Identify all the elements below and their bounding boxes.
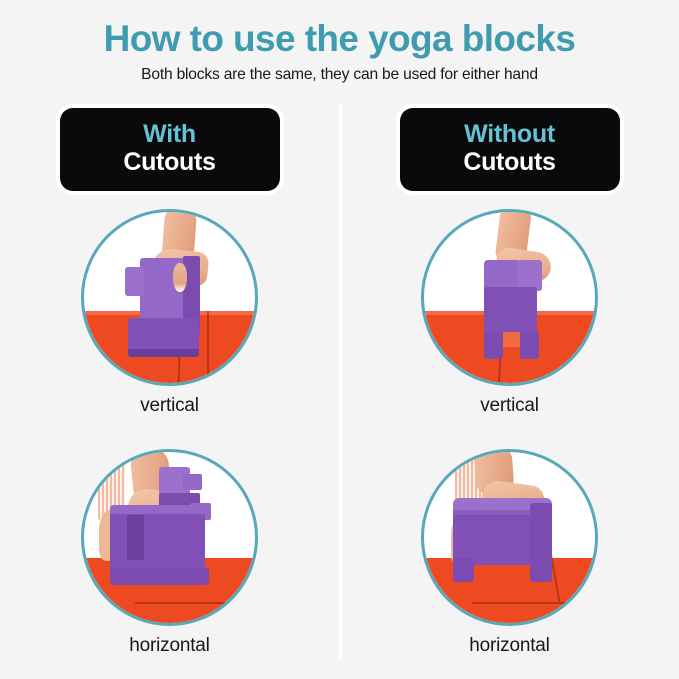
column-without-cutouts: Without Cutouts [340, 104, 679, 674]
circle-holder [0, 209, 339, 386]
mat-seam [135, 602, 238, 604]
caption-with-cutouts-horizontal: horizontal [0, 635, 339, 657]
block-body-highlight [453, 510, 530, 515]
circle-holder [340, 449, 679, 626]
block-right-foot [530, 558, 552, 582]
photo-circle-without-cutouts-horizontal [421, 449, 598, 626]
page-title: How to use the yoga blocks [0, 18, 679, 59]
block-upper-shoulder [518, 260, 542, 291]
yoga-mat [421, 558, 598, 626]
column-with-cutouts: With Cutouts [0, 104, 339, 674]
circle-holder [0, 449, 339, 626]
badge-with-cutouts-line2: Cutouts [90, 148, 250, 177]
block-left-foot [453, 558, 474, 582]
photo-circle-without-cutouts-vertical [421, 209, 598, 386]
block-cutout-tab [125, 267, 144, 296]
caption-with-cutouts-vertical: vertical [0, 395, 339, 417]
scene-without-cutouts-horizontal [424, 452, 595, 623]
block-front-body [110, 505, 206, 577]
badge-with-cutouts: With Cutouts [60, 108, 280, 191]
badge-with-cutouts-line1: With [90, 120, 250, 148]
block-right-leg [520, 332, 539, 359]
header: How to use the yoga blocks Both blocks a… [0, 18, 679, 84]
scene-without-cutouts-vertical [424, 212, 595, 383]
photo-cell-with-cutouts-vertical: vertical [0, 209, 339, 417]
badge-without-cutouts-wrapper: Without Cutouts [340, 108, 679, 191]
block-front-inner-notch [127, 515, 144, 559]
block-left-leg [484, 332, 503, 359]
mat-seam [472, 602, 578, 604]
block-shadow-face [128, 349, 198, 358]
finger-in-cutout [173, 263, 187, 292]
infographic-page: How to use the yoga blocks Both blocks a… [0, 0, 679, 679]
badge-without-cutouts-line1: Without [430, 120, 590, 148]
block-base-lip [110, 568, 209, 585]
badge-without-cutouts-line2: Cutouts [430, 148, 590, 177]
caption-without-cutouts-horizontal: horizontal [340, 635, 679, 657]
caption-without-cutouts-vertical: vertical [340, 395, 679, 417]
scene-with-cutouts-vertical [84, 212, 255, 383]
circle-holder [340, 209, 679, 386]
page-subtitle: Both blocks are the same, they can be us… [0, 66, 679, 84]
block-notch-shadow [503, 332, 520, 347]
block-rear-tab [183, 474, 202, 489]
photo-cell-without-cutouts-horizontal: horizontal [340, 449, 679, 657]
block-front-top-edge [110, 505, 206, 514]
photo-circle-with-cutouts-horizontal [81, 449, 258, 626]
photo-cell-with-cutouts-horizontal: horizontal [0, 449, 339, 657]
scene-with-cutouts-horizontal [84, 452, 255, 623]
mat-seam [207, 311, 209, 383]
photo-cell-without-cutouts-vertical: vertical [340, 209, 679, 417]
badge-without-cutouts: Without Cutouts [400, 108, 620, 191]
badge-with-cutouts-wrapper: With Cutouts [0, 108, 339, 191]
photo-circle-with-cutouts-vertical [81, 209, 258, 386]
